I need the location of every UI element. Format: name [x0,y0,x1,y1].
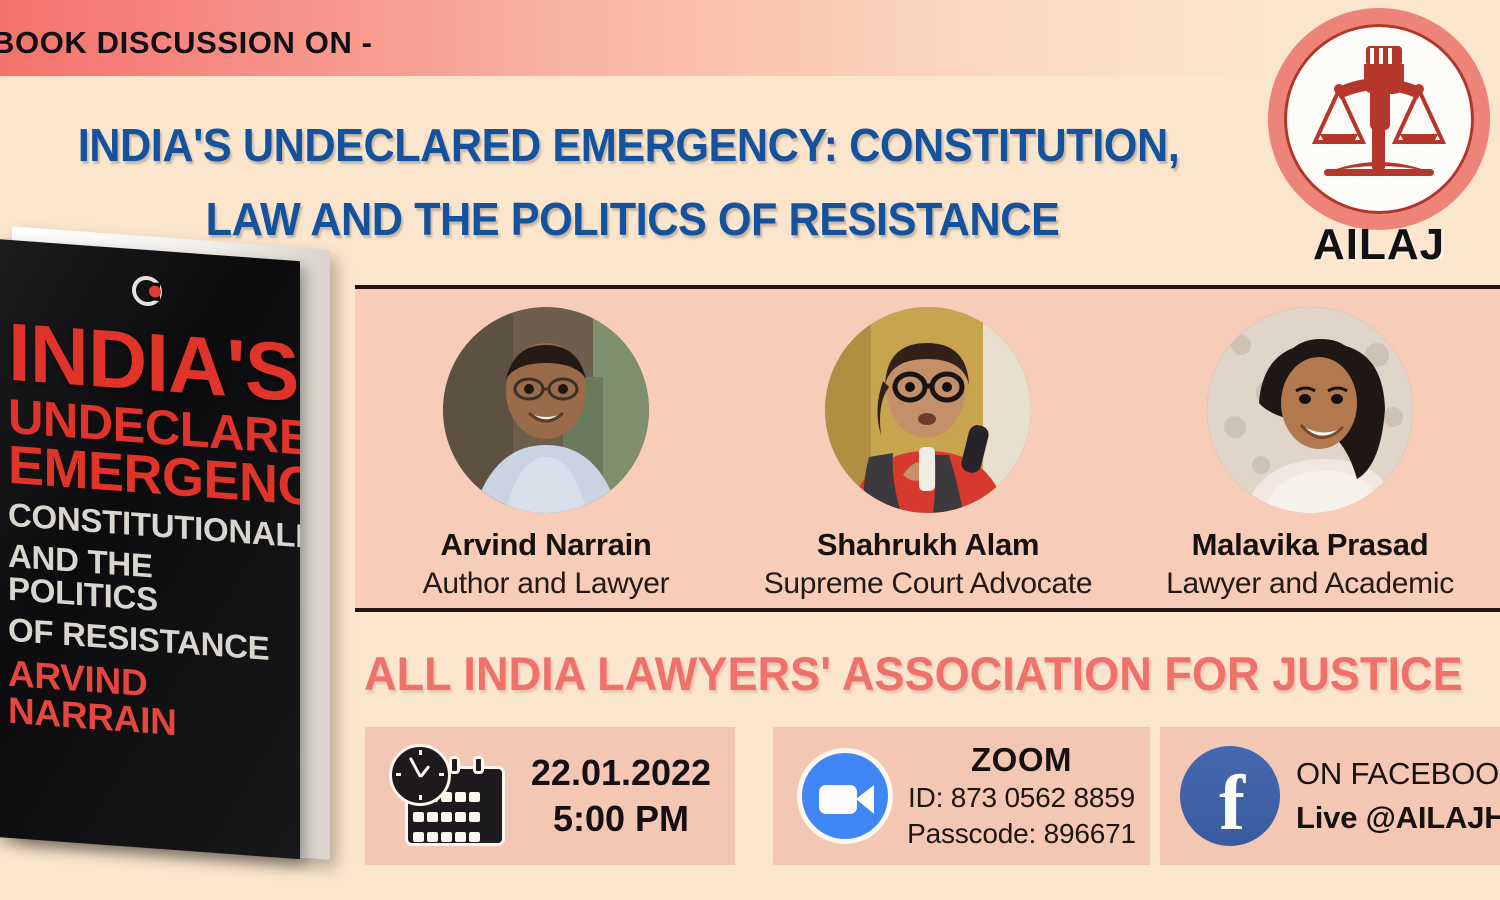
book-cover-text: INDIA'S UNDECLARED EMERGENCY CONSTITUTIO… [8,316,290,750]
avatar [1207,307,1413,513]
logo-label: AILAJ [1268,220,1490,270]
date-time-text: 22.01.2022 5:00 PM [507,750,735,842]
zoom-box[interactable]: ZOOM ID: 873 0562 8859 Passcode: 896671 [773,727,1150,865]
book-subtitle-line-2: AND THE POLITICS [8,539,290,626]
top-banner: BOOK DISCUSSION ON - [0,0,1290,76]
facebook-handle: Live @AILAJHQ [1296,796,1500,840]
zoom-video-icon [797,748,893,844]
speaker-role: Supreme Court Advocate [737,567,1119,601]
zoom-details: ZOOM ID: 873 0562 8859 Passcode: 896671 [893,740,1150,852]
facebook-details: ON FACEBOOK Live @AILAJHQ [1280,752,1500,840]
speaker-card: Malavika Prasad Lawyer and Academic [1119,289,1500,601]
event-time: 5:00 PM [507,796,735,842]
speaker-name: Arvind Narrain [355,527,737,563]
speaker-card: Arvind Narrain Author and Lawyer [355,289,737,601]
speaker-name: Malavika Prasad [1119,527,1500,563]
speaker-role: Lawyer and Academic [1119,567,1500,601]
organization-name: ALL INDIA LAWYERS' ASSOCIATION FOR JUSTI… [364,646,1463,701]
scales-of-justice-with-fist-icon [1284,24,1474,214]
speaker-role: Author and Lawyer [355,567,737,601]
facebook-box[interactable]: f ON FACEBOOK Live @AILAJHQ [1160,727,1500,865]
ailaj-logo: AILAJ [1268,8,1500,280]
date-time-box: 22.01.2022 5:00 PM [365,727,735,865]
avatar [443,307,649,513]
book-discussion-label: BOOK DISCUSSION ON - [0,25,373,61]
zoom-title: ZOOM [893,740,1150,780]
facebook-icon: f [1180,746,1280,846]
info-boxes-row: 22.01.2022 5:00 PM ZOOM ID: 873 0562 885… [365,727,1500,865]
zoom-passcode: Passcode: 896671 [893,816,1150,852]
facebook-line-1: ON FACEBOOK [1296,752,1500,796]
speaker-card: Shahrukh Alam Supreme Court Advocate [737,289,1119,601]
speakers-band: Arvind Narrain Author and Lawyer [355,285,1500,612]
calendar-clock-icon [389,744,507,848]
title-line-1: INDIA'S UNDECLARED EMERGENCY: CONSTITUTI… [30,108,1227,182]
avatar [825,307,1031,513]
event-poster: BOOK DISCUSSION ON - INDIA'S UNDECLARED … [0,0,1500,900]
book-cover-image: INDIA'S UNDECLARED EMERGENCY CONSTITUTIO… [0,232,344,872]
event-date: 22.01.2022 [507,750,735,796]
book-front-cover: INDIA'S UNDECLARED EMERGENCY CONSTITUTIO… [0,239,300,859]
speaker-name: Shahrukh Alam [737,527,1119,563]
zoom-meeting-id: ID: 873 0562 8859 [893,780,1150,816]
